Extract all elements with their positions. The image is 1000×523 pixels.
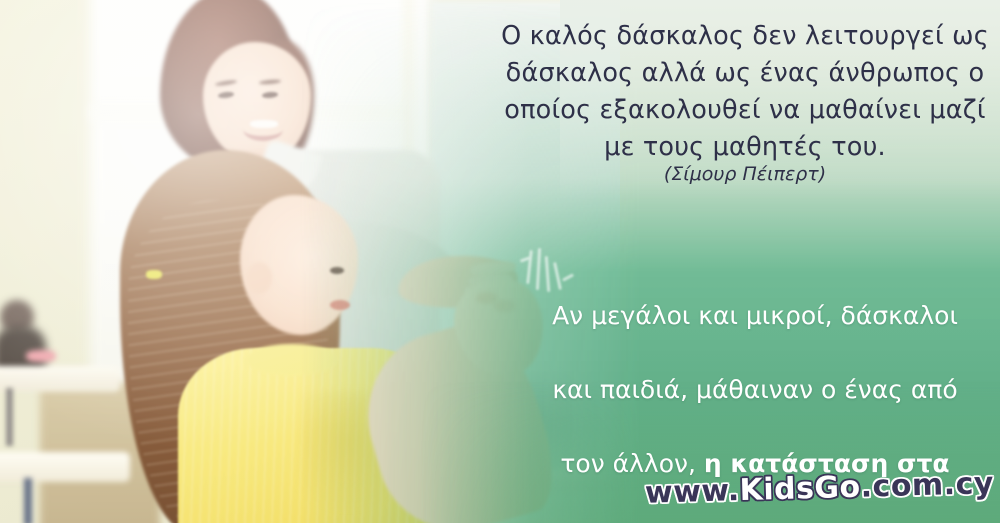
classroom-desk-back [0,366,120,392]
primary-quote-attribution: (Σίμουρ Πέιπερτ) [500,161,990,187]
student-sweater-collar [246,344,338,376]
background-desk-object [26,350,56,362]
watermark-prefix: www. [645,473,741,511]
teacher-smile [243,118,283,141]
secondary-quote-line-2: και παιδιά, μάθαιναν ο ένας από [552,375,957,404]
watermark-brand: KidsGo [739,470,861,508]
classroom-desk-front-leg [24,478,32,523]
secondary-quote-line-1: Αν μεγάλοι και μικροί, δάσκαλοι [552,301,958,330]
classroom-desk-back-leg [6,388,13,446]
student-eye [330,267,344,274]
watermark-suffix: .com.cy [860,466,994,505]
quote-poster: Ο καλός δάσκαλος δεν λειτουργεί ως δάσκα… [0,0,1000,523]
student-lips [330,300,350,310]
classroom-desk-front [0,452,130,482]
student-hair-tie [146,270,162,279]
secondary-quote-line-3-regular: τον άλλον, [560,449,703,478]
primary-quote-text: Ο καλός δάσκαλος δεν λειτουργεί ως δάσκα… [500,18,990,166]
student-knuckle [494,300,516,312]
student-ear [246,262,272,294]
